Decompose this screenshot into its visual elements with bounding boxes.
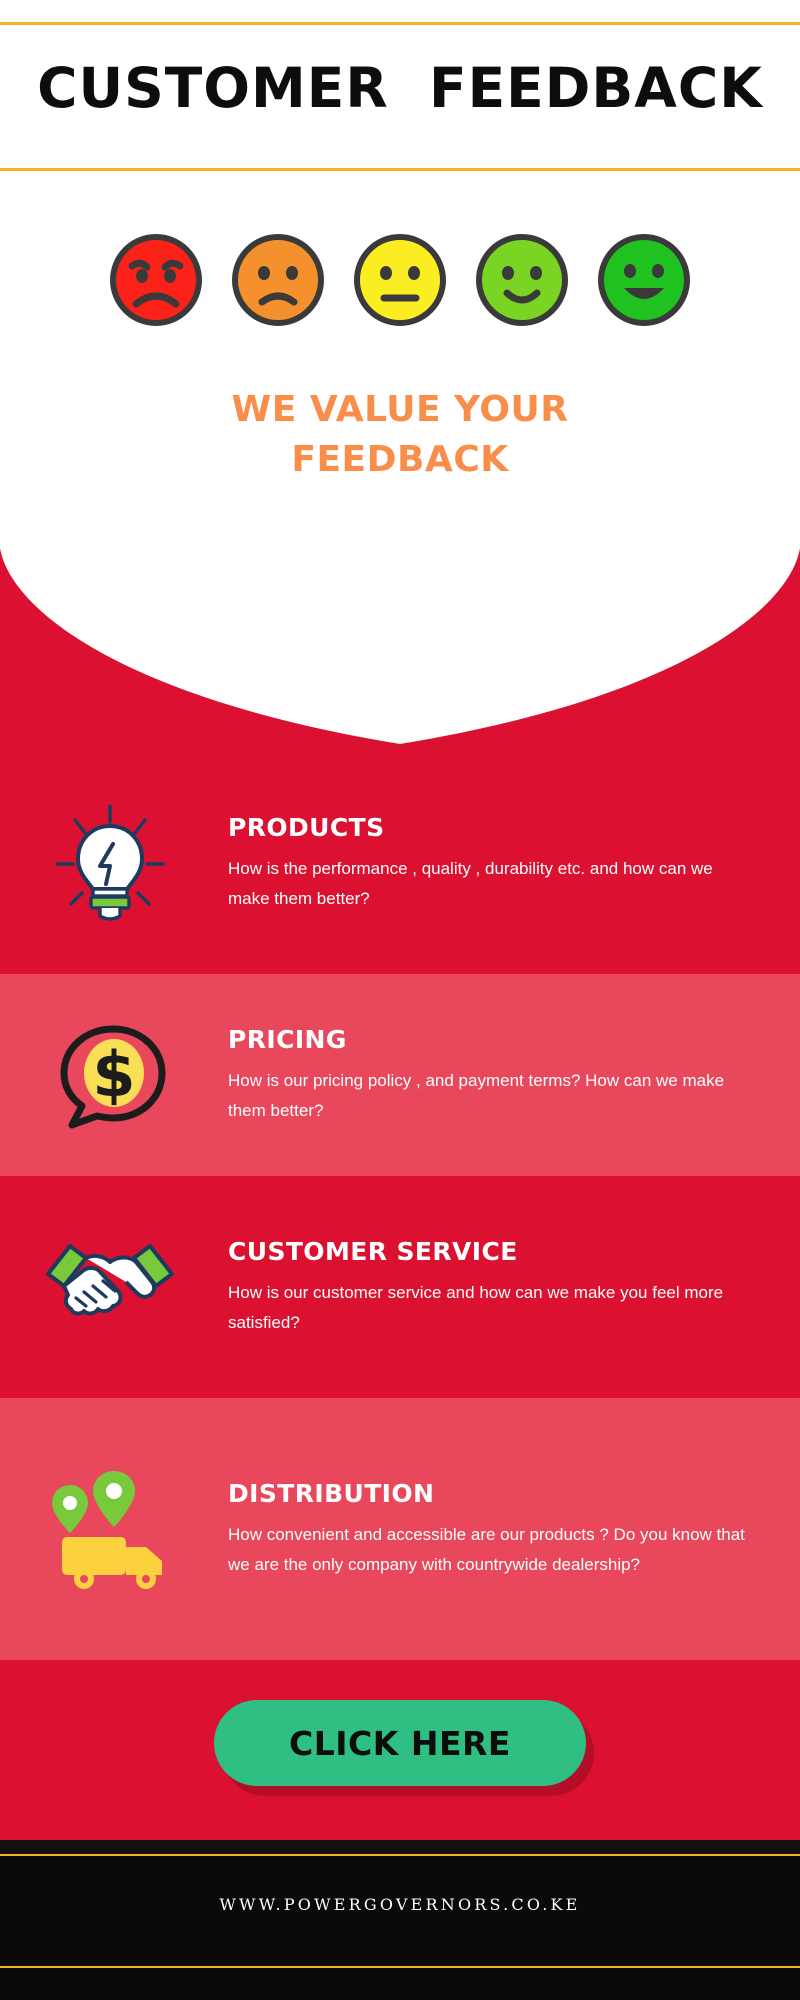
section-pricing: $ PRICING How is our pricing policy , an… xyxy=(0,974,800,1176)
delivery-truck-icon-wrap xyxy=(30,1459,190,1599)
handshake-icon-wrap xyxy=(30,1232,190,1342)
header-bottom-rule xyxy=(0,168,800,171)
products-heading: PRODUCTS xyxy=(228,813,748,842)
customer-service-text-block: CUSTOMER SERVICE How is our customer ser… xyxy=(228,1237,748,1338)
distribution-text-block: DISTRIBUTION How convenient and accessib… xyxy=(228,1479,748,1580)
subtitle-line-1: WE VALUE YOUR xyxy=(0,385,800,435)
footer-rule-top xyxy=(0,1854,800,1856)
pricing-heading: PRICING xyxy=(228,1025,748,1054)
cta-wrap: CLICK HERE xyxy=(0,1700,800,1792)
customer-service-heading: CUSTOMER SERVICE xyxy=(228,1237,748,1266)
angry-face-icon[interactable] xyxy=(106,230,206,330)
dollar-speech-bubble-icon: $ xyxy=(50,1015,170,1135)
distribution-heading: DISTRIBUTION xyxy=(228,1479,748,1508)
subtitle-line-2: FEEDBACK xyxy=(0,435,800,485)
rating-face-row xyxy=(0,230,800,330)
products-text-block: PRODUCTS How is the performance , qualit… xyxy=(228,813,748,914)
very-happy-face-icon[interactable] xyxy=(594,230,694,330)
infographic-page: CUSTOMER FEEDBACK xyxy=(0,0,800,2000)
section-distribution: DISTRIBUTION How convenient and accessib… xyxy=(0,1398,800,1660)
footer-website-url[interactable]: WWW.POWERGOVERNORS.CO.KE xyxy=(0,1895,800,1914)
section-customer-service: CUSTOMER SERVICE How is our customer ser… xyxy=(0,1176,800,1398)
dollar-speech-bubble-icon-wrap: $ xyxy=(30,1015,190,1135)
customer-service-description: How is our customer service and how can … xyxy=(228,1278,748,1338)
header-top-rule xyxy=(0,22,800,25)
cta-shadow: CLICK HERE xyxy=(214,1700,586,1792)
delivery-truck-icon xyxy=(40,1459,180,1599)
envelope-flap-decoration xyxy=(0,548,800,758)
lightbulb-icon xyxy=(45,798,175,928)
svg-text:$: $ xyxy=(92,1038,135,1111)
click-here-button[interactable]: CLICK HERE xyxy=(214,1700,586,1786)
pricing-description: How is our pricing policy , and payment … xyxy=(228,1066,748,1126)
happy-face-icon[interactable] xyxy=(472,230,572,330)
section-products: PRODUCTS How is the performance , qualit… xyxy=(0,752,800,974)
page-title: CUSTOMER FEEDBACK xyxy=(0,56,800,120)
distribution-description: How convenient and accessible are our pr… xyxy=(228,1520,748,1580)
sad-face-icon[interactable] xyxy=(228,230,328,330)
footer-rule-bottom xyxy=(0,1966,800,1968)
footer-top-bar xyxy=(0,1840,800,1854)
footer xyxy=(0,1856,800,2000)
lightbulb-icon-wrap xyxy=(30,798,190,928)
handshake-icon xyxy=(40,1232,180,1342)
products-description: How is the performance , quality , durab… xyxy=(228,854,748,914)
pricing-text-block: PRICING How is our pricing policy , and … xyxy=(228,1025,748,1126)
neutral-face-icon[interactable] xyxy=(350,230,450,330)
subtitle: WE VALUE YOUR FEEDBACK xyxy=(0,385,800,485)
